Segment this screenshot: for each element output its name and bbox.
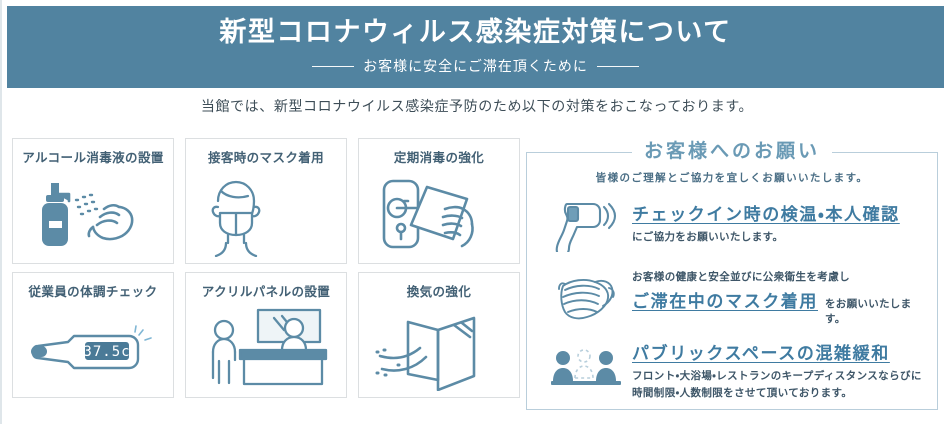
measure-title: 従業員の体調チェック: [28, 281, 157, 300]
request-post-text: フロント・大浴場・レストランのキープディスタンスならびに 時間制限・人数制限をさ…: [632, 368, 924, 401]
covid-measures-page: 新型コロナウィルス感染症対策について お客様に安全にご滞在頂くために 当館では、…: [0, 0, 950, 424]
request-headline-row: チェックイン時の検温・本人確認: [632, 200, 924, 225]
request-post-line: にご協力をお願いいたします。: [632, 229, 924, 245]
rule-right-icon: [597, 66, 639, 67]
request-headline: パブリックスペースの混雑緩和: [632, 339, 890, 364]
header-subtitle-row: お客様に安全にご滞在頂くために: [312, 56, 639, 76]
sanitizer-dispenser-icon: [13, 166, 173, 263]
measure-title: アルコール消毒液の設置: [22, 147, 164, 166]
face-mask-icon: [540, 270, 632, 324]
request-post-text: にご協力をお願いいたします。: [632, 229, 924, 245]
request-item-distancing: パブリックスペースの混雑緩和 フロント・大浴場・レストランのキープディスタンスな…: [526, 334, 938, 406]
measure-title: アクリルパネルの設置: [202, 281, 330, 300]
request-post-line: フロント・大浴場・レストランのキープディスタンスならびに: [632, 368, 924, 384]
guest-requests-subtitle: 皆様のご理解とご協力を宜しくお願いいたします。: [526, 170, 938, 185]
measure-card-regular-disinfection: 定期消毒の強化: [358, 138, 520, 264]
thermometer-reading: 37.5c: [83, 344, 130, 360]
request-text: お客様の健康と安全並びに公衆衛生を考慮し ご滞在中のマスク着用 をお願いいたしま…: [632, 269, 924, 326]
request-pre-text: お客様の健康と安全並びに公衆衛生を考慮し: [632, 269, 924, 284]
lead-paragraph: 当館では、新型コロナウイルス感染症予防のため以下の対策をおこなっております。: [2, 96, 950, 116]
page-header: 新型コロナウィルス感染症対策について お客様に安全にご滞在頂くために: [7, 6, 944, 88]
measure-title: 換気の強化: [407, 281, 472, 300]
measure-card-acrylic-panel: アクリルパネルの設置: [185, 272, 347, 398]
measures-grid: アルコール消毒液の設置: [12, 138, 507, 398]
guest-requests-list: チェックイン時の検温・本人確認 にご協力をお願いいたします。: [526, 186, 938, 410]
social-distance-people-icon: [540, 345, 632, 395]
request-post-line: 時間制限・人数制限をさせて頂いております。: [632, 385, 924, 401]
measure-card-sanitizer: アルコール消毒液の設置: [12, 138, 174, 264]
measure-card-staff-mask: 接客時のマスク着用: [185, 138, 347, 264]
request-item-temperature-check: チェックイン時の検温・本人確認 にご協力をお願いいたします。: [526, 186, 938, 260]
measure-card-ventilation: 換気の強化: [358, 272, 520, 398]
request-headline-row: ご滞在中のマスク着用 をお願いいたします。: [632, 287, 924, 326]
open-window-airflow-icon: [359, 300, 519, 397]
rule-left-icon: [312, 66, 354, 67]
request-headline: ご滞在中のマスク着用: [632, 287, 818, 312]
request-headline-tail: をお願いいたします。: [825, 296, 924, 326]
request-text: チェックイン時の検温・本人確認 にご協力をお願いいたします。: [632, 200, 924, 245]
request-headline-row: パブリックスペースの混雑緩和: [632, 339, 924, 364]
request-headline: チェックイン時の検温・本人確認: [632, 200, 900, 225]
request-text: パブリックスペースの混雑緩和 フロント・大浴場・レストランのキープディスタンスな…: [632, 339, 924, 401]
door-handle-wipe-icon: [359, 166, 519, 263]
acrylic-panel-counter-icon: [186, 300, 346, 397]
page-title: 新型コロナウィルス感染症対策について: [219, 18, 731, 48]
thermometer-icon: 37.5c: [13, 300, 173, 397]
request-item-wear-mask: お客様の健康と安全並びに公衆衛生を考慮し ご滞在中のマスク着用 をお願いいたしま…: [526, 260, 938, 334]
two-masked-people-icon: [186, 166, 346, 263]
measure-title: 接客時のマスク着用: [208, 147, 324, 166]
measure-card-staff-health-check: 従業員の体調チェック 37.5c: [12, 272, 174, 398]
header-subtitle: お客様に安全にご滞在頂くために: [363, 56, 588, 76]
forehead-thermometer-gun-icon: [540, 194, 632, 252]
measure-title: 定期消毒の強化: [394, 147, 484, 166]
